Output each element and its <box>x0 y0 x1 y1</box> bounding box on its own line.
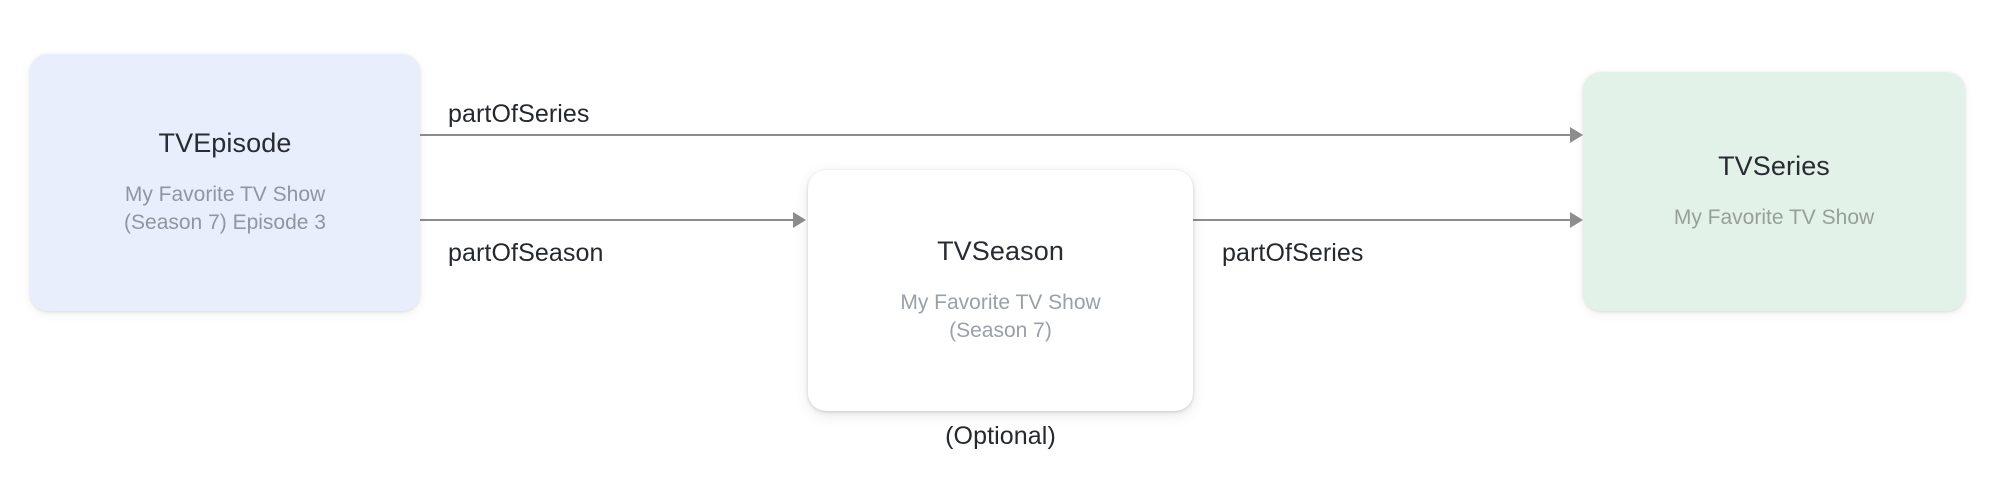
node-tvepisode[interactable]: TVEpisode My Favorite TV Show (Season 7)… <box>30 54 420 311</box>
node-tvseason[interactable]: TVSeason My Favorite TV Show (Season 7) <box>808 170 1193 411</box>
node-tvseason-optional-note: (Optional) <box>808 422 1193 451</box>
edge-label-episode-to-series: partOfSeries <box>448 100 590 129</box>
node-tvseries-title: TVSeries <box>1718 150 1830 184</box>
node-tvseries[interactable]: TVSeries My Favorite TV Show <box>1583 72 1965 311</box>
edge-line-episode-to-season <box>420 219 795 221</box>
node-tvepisode-title: TVEpisode <box>159 127 292 161</box>
node-tvseason-title: TVSeason <box>937 235 1064 269</box>
node-tvseason-subtitle: My Favorite TV Show (Season 7) <box>900 289 1100 346</box>
node-tvepisode-subtitle: My Favorite TV Show (Season 7) Episode 3 <box>124 181 326 238</box>
edge-line-episode-to-series <box>420 134 1578 136</box>
edge-label-season-to-series: partOfSeries <box>1222 239 1364 268</box>
arrowhead-icon-episode-to-season <box>793 212 806 228</box>
edge-line-season-to-series <box>1193 219 1578 221</box>
arrowhead-icon-season-to-series <box>1570 212 1583 228</box>
node-tvseries-subtitle: My Favorite TV Show <box>1674 204 1874 232</box>
diagram-canvas: partOfSeries partOfSeason partOfSeries T… <box>0 0 2000 495</box>
edge-label-episode-to-season: partOfSeason <box>448 239 603 268</box>
arrowhead-icon-episode-to-series <box>1570 127 1583 143</box>
